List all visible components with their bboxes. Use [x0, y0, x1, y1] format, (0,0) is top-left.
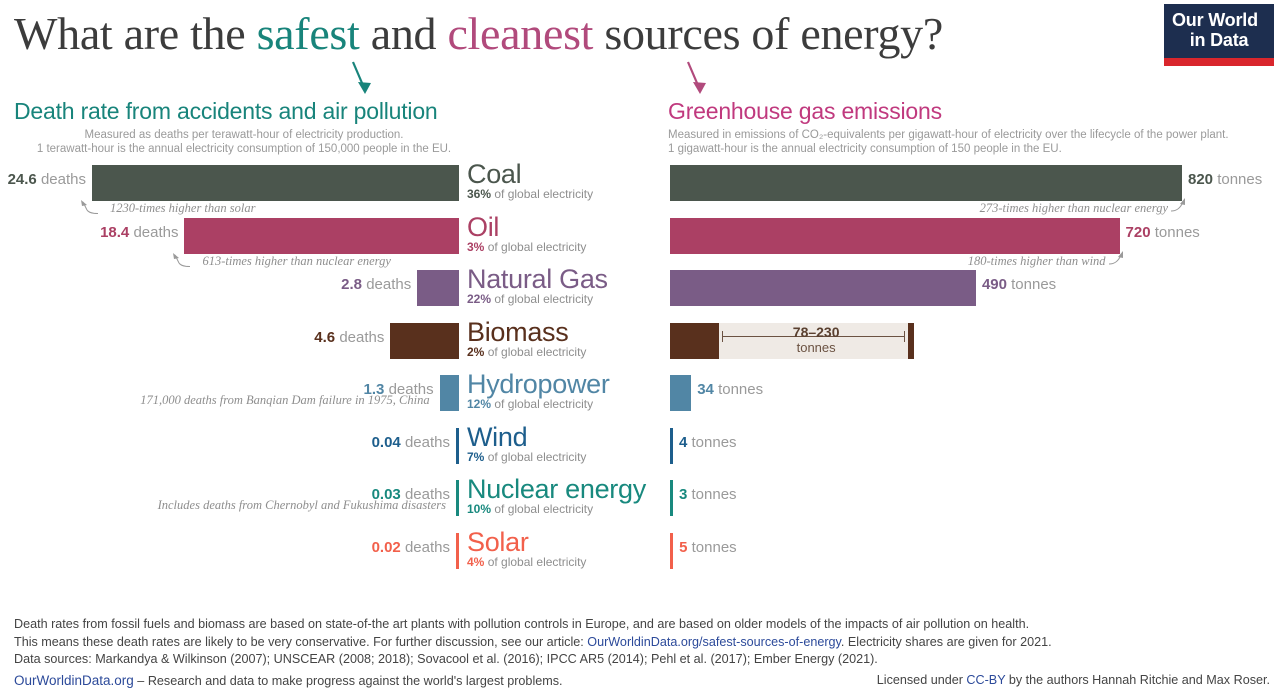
emissions-bar	[670, 480, 673, 516]
emissions-value-label: 720 tonnes	[1126, 224, 1200, 241]
license-text-a: Licensed under	[877, 673, 967, 687]
right-subtitle-line-2: 1 gigawatt-hour is the annual electricit…	[668, 142, 1280, 156]
deaths-unit: deaths	[41, 171, 86, 188]
emissions-range-box: 78–230tonnes	[719, 323, 914, 359]
death-rate-bar	[440, 375, 459, 411]
energy-source-label: Biomass2% of global electricity	[467, 317, 667, 359]
emissions-bar	[670, 428, 673, 464]
emissions-number: 4	[679, 434, 687, 451]
energy-row: 0.02 deathsSolar4% of global electricity…	[0, 531, 1280, 583]
electricity-share-suffix: of global electricity	[494, 187, 593, 201]
deaths-value-label: 0.04 deaths	[372, 434, 450, 451]
annotation-leader-icon	[172, 252, 206, 270]
annotation-leader-icon	[80, 199, 114, 217]
deaths-unit: deaths	[133, 224, 178, 241]
death-rate-bar	[456, 428, 459, 464]
energy-source-name: Coal	[467, 159, 667, 189]
emissions-number: 3	[679, 486, 687, 503]
electricity-share-percent: 10%	[467, 502, 491, 516]
emissions-unit: tonnes	[718, 381, 763, 398]
left-subtitle-line-1: Measured as deaths per terawatt-hour of …	[14, 128, 474, 142]
electricity-share-percent: 36%	[467, 187, 491, 201]
electricity-share-suffix: of global electricity	[494, 292, 593, 306]
deaths-number: 24.6	[8, 171, 37, 188]
header: What are the safest and cleanest sources…	[0, 0, 1280, 78]
logo-line-1: Our World	[1172, 10, 1266, 30]
deaths-unit: deaths	[366, 276, 411, 293]
left-section-subtitle: Measured as deaths per terawatt-hour of …	[14, 128, 474, 156]
death-rate-bar	[456, 533, 459, 569]
title-part-3: sources of energy?	[593, 8, 943, 59]
emissions-value-label: 5 tonnes	[679, 539, 737, 556]
logo-red-bar	[1164, 58, 1274, 66]
logo-line-2: in Data	[1172, 30, 1266, 50]
deaths-number: 18.4	[100, 224, 129, 241]
energy-row: 4.6 deathsBiomass2% of global electricit…	[0, 321, 1280, 373]
emissions-range-unit: tonnes	[719, 340, 914, 355]
right-section-header: Greenhouse gas emissions Measured in emi…	[668, 98, 1280, 156]
electricity-share-suffix: of global electricity	[494, 397, 593, 411]
right-section-subtitle: Measured in emissions of CO₂-equivalents…	[668, 128, 1280, 156]
page-title: What are the safest and cleanest sources…	[14, 7, 943, 60]
left-section-header: Death rate from accidents and air pollut…	[14, 98, 474, 156]
electricity-share-percent: 4%	[467, 555, 484, 569]
energy-row: 24.6 deathsCoal36% of global electricity…	[0, 163, 1280, 215]
title-word-safest: safest	[257, 8, 360, 59]
annotation-note-right: 180-times higher than wind	[968, 254, 1106, 269]
electricity-share-percent: 3%	[467, 240, 484, 254]
annotation-note-left: Includes deaths from Chernobyl and Fukus…	[158, 498, 446, 513]
energy-row: 18.4 deathsOil3% of global electricity72…	[0, 216, 1280, 268]
emissions-range-value: 78–230	[719, 323, 914, 340]
deaths-number: 2.8	[341, 276, 362, 293]
energy-row: 0.04 deathsWind7% of global electricity4…	[0, 426, 1280, 478]
energy-source-name: Biomass	[467, 317, 667, 347]
emissions-value-label: 3 tonnes	[679, 486, 737, 503]
emissions-unit: tonnes	[692, 539, 737, 556]
emissions-value-label: 820 tonnes	[1188, 171, 1262, 188]
emissions-range-upper-cap	[908, 323, 914, 359]
emissions-number: 490	[982, 276, 1007, 293]
footer-line-2-text-b: . Electricity shares are given for 2021.	[841, 635, 1052, 649]
energy-source-label: Oil3% of global electricity	[467, 212, 667, 254]
energy-source-label: Hydropower12% of global electricity	[467, 369, 667, 411]
owid-site-link[interactable]: OurWorldinData.org	[14, 673, 134, 688]
owid-logo[interactable]: Our World in Data	[1164, 4, 1274, 66]
footer-line-1: Death rates from fossil fuels and biomas…	[14, 616, 1270, 634]
title-word-cleanest: cleanest	[447, 8, 593, 59]
emissions-value-label: 4 tonnes	[679, 434, 737, 451]
title-part-1: What are the	[14, 8, 257, 59]
emissions-number: 720	[1126, 224, 1151, 241]
emissions-unit: tonnes	[692, 486, 737, 503]
energy-source-name: Solar	[467, 527, 667, 557]
energy-source-name: Oil	[467, 212, 667, 242]
deaths-number: 0.02	[372, 539, 401, 556]
deaths-value-label: 4.6 deaths	[314, 329, 384, 346]
death-rate-bar	[417, 270, 459, 306]
emissions-value-label: 34 tonnes	[697, 381, 763, 398]
license-text-b: by the authors Hannah Ritchie and Max Ro…	[1005, 673, 1270, 687]
energy-source-name: Natural Gas	[467, 264, 667, 294]
deaths-number: 4.6	[314, 329, 335, 346]
electricity-share-percent: 22%	[467, 292, 491, 306]
energy-source-label: Natural Gas22% of global electricity	[467, 264, 667, 306]
energy-row: 1.3 deathsHydropower12% of global electr…	[0, 373, 1280, 425]
electricity-share-suffix: of global electricity	[488, 450, 587, 464]
death-rate-bar	[92, 165, 459, 201]
energy-source-label: Solar4% of global electricity	[467, 527, 667, 569]
annotation-leader-icon	[1107, 250, 1137, 268]
deaths-number: 0.04	[372, 434, 401, 451]
ccby-link[interactable]: CC-BY	[966, 673, 1005, 687]
deaths-unit: deaths	[339, 329, 384, 346]
deaths-value-label: 24.6 deaths	[8, 171, 86, 188]
left-subtitle-line-2: 1 terawatt-hour is the annual electricit…	[14, 142, 474, 156]
annotation-note-left: 613-times higher than nuclear energy	[202, 254, 390, 269]
left-section-title: Death rate from accidents and air pollut…	[14, 98, 474, 125]
annotation-note-left: 1230-times higher than solar	[110, 201, 255, 216]
energy-row: 2.8 deathsNatural Gas22% of global elect…	[0, 268, 1280, 320]
annotation-note-right: 273-times higher than nuclear energy	[980, 201, 1168, 216]
death-rate-bar	[456, 480, 459, 516]
emissions-number: 34	[697, 381, 714, 398]
energy-row: 0.03 deathsNuclear energy10% of global e…	[0, 478, 1280, 530]
electricity-share-suffix: of global electricity	[488, 345, 587, 359]
electricity-share-percent: 2%	[467, 345, 484, 359]
footer-line-2-text-a: This means these death rates are likely …	[14, 635, 587, 649]
footer-tagline: – Research and data to make progress aga…	[134, 674, 563, 688]
deaths-unit: deaths	[405, 434, 450, 451]
emissions-unit: tonnes	[1011, 276, 1056, 293]
arrow-to-right-section-icon	[660, 60, 720, 102]
energy-source-name: Hydropower	[467, 369, 667, 399]
electricity-share-percent: 7%	[467, 450, 484, 464]
emissions-bar	[670, 165, 1182, 201]
emissions-value-label: 490 tonnes	[982, 276, 1056, 293]
deaths-unit: deaths	[405, 539, 450, 556]
energy-source-label: Wind7% of global electricity	[467, 422, 667, 464]
footer-line-4: OurWorldinData.org – Research and data t…	[14, 672, 1270, 690]
license-notice: Licensed under CC-BY by the authors Hann…	[877, 672, 1270, 690]
emissions-bar	[670, 270, 976, 306]
death-rate-bar	[390, 323, 459, 359]
electricity-share-percent: 12%	[467, 397, 491, 411]
footer-article-link[interactable]: OurWorldinData.org/safest-sources-of-ene…	[587, 635, 841, 649]
emissions-bar	[670, 375, 691, 411]
emissions-unit: tonnes	[692, 434, 737, 451]
deaths-value-label: 2.8 deaths	[341, 276, 411, 293]
electricity-share-suffix: of global electricity	[488, 555, 587, 569]
death-rate-bar	[184, 218, 459, 254]
emissions-bar	[670, 218, 1120, 254]
footer-line-2: This means these death rates are likely …	[14, 634, 1270, 652]
energy-source-name: Wind	[467, 422, 667, 452]
annotation-note-left: 171,000 deaths from Banqian Dam failure …	[140, 393, 429, 408]
right-subtitle-line-1: Measured in emissions of CO₂-equivalents…	[668, 128, 1280, 142]
right-section-title: Greenhouse gas emissions	[668, 98, 1280, 125]
deaths-value-label: 0.02 deaths	[372, 539, 450, 556]
deaths-value-label: 18.4 deaths	[100, 224, 178, 241]
footer: Death rates from fossil fuels and biomas…	[14, 616, 1270, 690]
energy-source-label: Nuclear energy10% of global electricity	[467, 474, 667, 516]
electricity-share-suffix: of global electricity	[494, 502, 593, 516]
emissions-bar	[670, 533, 673, 569]
energy-source-label: Coal36% of global electricity	[467, 159, 667, 201]
emissions-unit: tonnes	[1217, 171, 1262, 188]
emissions-bar	[670, 323, 719, 359]
emissions-number: 820	[1188, 171, 1213, 188]
arrow-to-left-section-icon	[325, 60, 385, 102]
emissions-number: 5	[679, 539, 687, 556]
title-part-2: and	[360, 8, 448, 59]
footer-data-sources: Data sources: Markandya & Wilkinson (200…	[14, 651, 1270, 669]
annotation-leader-icon	[1169, 197, 1199, 215]
electricity-share-suffix: of global electricity	[488, 240, 587, 254]
energy-source-name: Nuclear energy	[467, 474, 667, 504]
emissions-unit: tonnes	[1155, 224, 1200, 241]
